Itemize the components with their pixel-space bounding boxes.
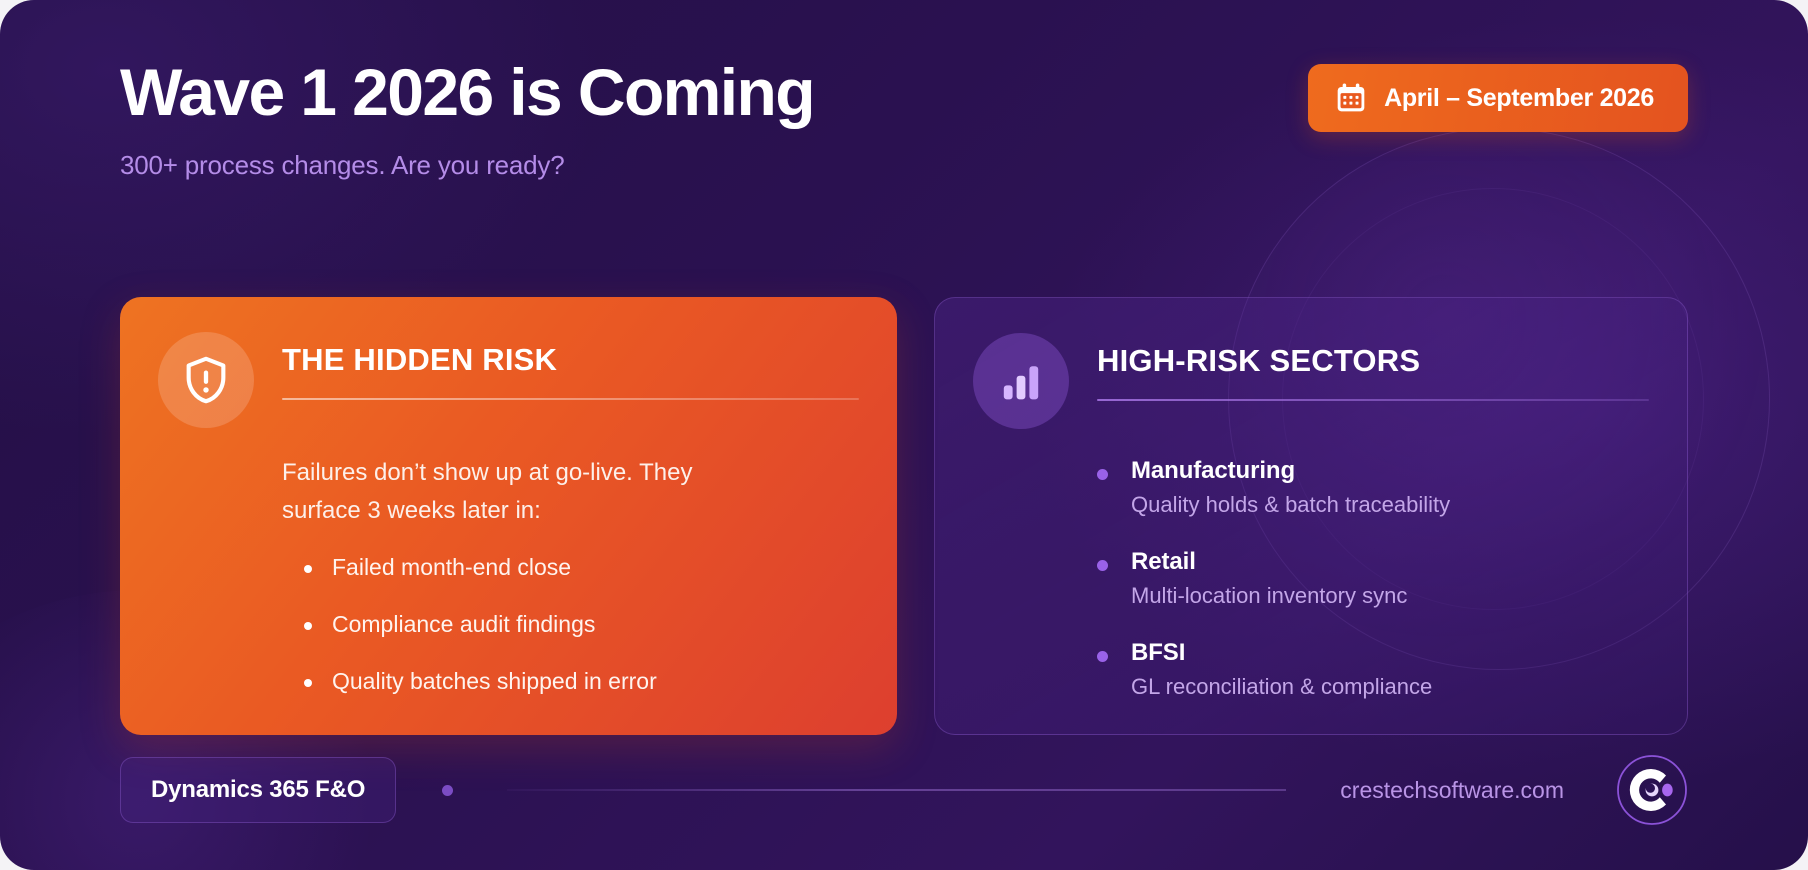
cards-row: THE HIDDEN RISK Failures don’t show up a… (120, 297, 1688, 735)
hidden-risk-card-header: THE HIDDEN RISK (158, 330, 859, 428)
calendar-icon (1334, 81, 1368, 115)
high-risk-sectors-card: HIGH-RISK SECTORS Manufacturing Quality … (934, 297, 1688, 735)
hidden-risk-title-block: THE HIDDEN RISK (282, 330, 859, 400)
footer: Dynamics 365 F&O crestechsoftware.com (120, 756, 1688, 824)
sector-name: Retail (1131, 548, 1649, 576)
list-item: Retail Multi-location inventory sync (1097, 548, 1649, 609)
list-item: Failed month-end close (296, 554, 859, 581)
sector-name: Manufacturing (1131, 457, 1649, 485)
crestech-c-logo-icon (1616, 754, 1688, 826)
hidden-risk-card: THE HIDDEN RISK Failures don’t show up a… (120, 297, 897, 735)
header: Wave 1 2026 is Coming 300+ process chang… (120, 58, 1688, 181)
product-badge: Dynamics 365 F&O (120, 757, 396, 823)
date-range-label: April – September 2026 (1384, 84, 1654, 113)
separator-dot-icon (442, 785, 453, 796)
hidden-risk-divider (282, 398, 859, 400)
high-risk-sectors-divider (1097, 399, 1649, 401)
sector-description: Quality holds & batch traceability (1131, 492, 1649, 518)
sector-description: Multi-location inventory sync (1131, 583, 1649, 609)
high-risk-sectors-title: HIGH-RISK SECTORS (1097, 343, 1649, 379)
page-subtitle: 300+ process changes. Are you ready? (120, 150, 1688, 181)
list-item: Manufacturing Quality holds & batch trac… (1097, 457, 1649, 518)
hidden-risk-title: THE HIDDEN RISK (282, 342, 859, 378)
list-item: Quality batches shipped in error (296, 668, 859, 695)
footer-divider (507, 789, 1286, 791)
hidden-risk-lead: Failures don’t show up at go-live. They … (282, 454, 752, 530)
shield-alert-icon (158, 332, 254, 428)
hidden-risk-bullet-list: Failed month-end close Compliance audit … (296, 554, 859, 695)
poster-canvas: Wave 1 2026 is Coming 300+ process chang… (0, 0, 1808, 870)
sector-name: BFSI (1131, 639, 1649, 667)
high-risk-sectors-title-block: HIGH-RISK SECTORS (1097, 331, 1649, 401)
sector-description: GL reconciliation & compliance (1131, 674, 1649, 700)
high-risk-sectors-card-header: HIGH-RISK SECTORS (973, 331, 1649, 429)
list-item: BFSI GL reconciliation & compliance (1097, 639, 1649, 700)
date-range-badge[interactable]: April – September 2026 (1308, 64, 1688, 132)
bar-chart-icon (973, 333, 1069, 429)
website-url[interactable]: crestechsoftware.com (1340, 777, 1564, 804)
sector-list: Manufacturing Quality holds & batch trac… (1097, 457, 1649, 700)
list-item: Compliance audit findings (296, 611, 859, 638)
